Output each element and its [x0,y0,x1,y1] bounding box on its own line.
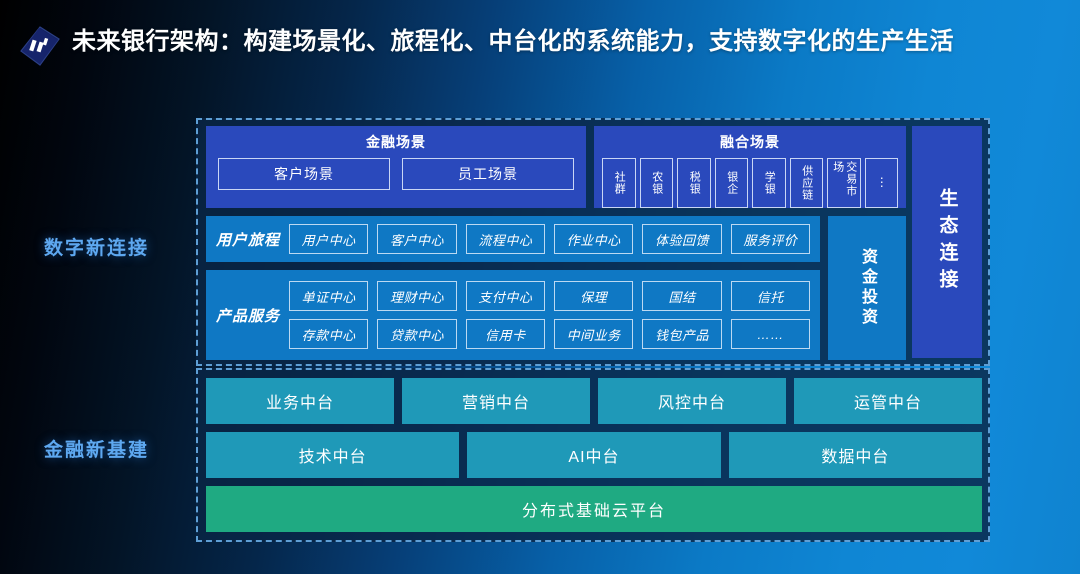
middle-platform-row-2: 技术中台 AI中台 数据中台 [206,432,982,478]
journey-chip-customer-center[interactable]: 客户中心 [377,224,456,254]
product-chip-loan-center[interactable]: 贷款中心 [377,319,456,349]
journey-chip-operation-center[interactable]: 作业中心 [554,224,633,254]
product-chip-factoring[interactable]: 保理 [554,281,633,311]
fusion-chip-trading-market[interactable]: 交易市场 [827,158,861,208]
user-journey-label: 用户旅程 [216,229,280,250]
fusion-scenario-box: 融合场景 社群 农银 税银 银企 学银 供应链 交易市场 ⋮ [594,126,906,208]
fusion-scenario-chips: 社群 农银 税银 银企 学银 供应链 交易市场 ⋮ [602,158,898,208]
product-chip-wallet-product[interactable]: 钱包产品 [642,319,721,349]
platform-tile-marketing[interactable]: 营销中台 [402,378,590,424]
platform-tile-business[interactable]: 业务中台 [206,378,394,424]
financial-scenario-title: 金融场景 [366,132,426,152]
infrastructure-area: 业务中台 营销中台 风控中台 运管中台 技术中台 AI中台 数据中台 分布式基础… [206,378,982,532]
scenario-row: 金融场景 客户场景 员工场景 融合场景 社群 农银 税银 银企 学银 供应链 交… [206,126,906,208]
fusion-chip-community[interactable]: 社群 [602,158,636,208]
product-chip-intermediary-business[interactable]: 中间业务 [554,319,633,349]
page-title: 未来银行架构：构建场景化、旅程化、中台化的系统能力，支持数字化的生产生活 [72,14,954,60]
fusion-chip-school-bank[interactable]: 学银 [752,158,786,208]
product-service-grid: 单证中心 理财中心 支付中心 保理 国结 信托 存款中心 贷款中心 信用卡 中间… [289,281,810,349]
product-chip-payment-center[interactable]: 支付中心 [466,281,545,311]
capital-investment-column[interactable]: 资金投资 [828,216,906,360]
cloud-platform-row: 分布式基础云平台 [206,486,982,532]
financial-scenario-chips: 客户场景 员工场景 [218,158,574,190]
product-chip-deposit-center[interactable]: 存款中心 [289,319,368,349]
brand-diamond-logo [14,20,66,72]
platform-tile-operations[interactable]: 运管中台 [794,378,982,424]
brand-diamond-logo-glyph [19,25,61,67]
product-chip-trust[interactable]: 信托 [731,281,810,311]
cloud-platform-bar[interactable]: 分布式基础云平台 [206,486,982,532]
rail-label-digital-connection: 数字新连接 [44,233,149,260]
fusion-chip-bank-enterprise[interactable]: 银企 [715,158,749,208]
page-header: 未来银行架构：构建场景化、旅程化、中台化的系统能力，支持数字化的生产生活 [0,0,1080,102]
connect-area: 金融场景 客户场景 员工场景 融合场景 社群 农银 税银 银企 学银 供应链 交… [206,126,906,358]
platform-tile-ai[interactable]: AI中台 [467,432,720,478]
fusion-scenario-title: 融合场景 [720,132,780,152]
journey-chip-service-evaluation[interactable]: 服务评价 [731,224,810,254]
fusion-chip-supply-chain[interactable]: 供应链 [790,158,824,208]
capital-investment-label: 资金投资 [855,248,879,328]
journey-chip-process-center[interactable]: 流程中心 [466,224,545,254]
product-service-label: 产品服务 [216,305,280,326]
journey-and-product-column: 用户旅程 用户中心 客户中心 流程中心 作业中心 体验回馈 服务评价 产品服务 … [206,216,820,360]
platform-tile-technology[interactable]: 技术中台 [206,432,459,478]
user-journey-row: 用户旅程 用户中心 客户中心 流程中心 作业中心 体验回馈 服务评价 [206,216,820,262]
rail-label-financial-infrastructure: 金融新基建 [44,435,149,462]
ecosystem-connection-label: 生态连接 [934,188,961,296]
scenario-chip-customer[interactable]: 客户场景 [218,158,390,190]
journey-chip-user-center[interactable]: 用户中心 [289,224,368,254]
product-chip-wealth-center[interactable]: 理财中心 [377,281,456,311]
product-chip-more-ellipsis[interactable]: …… [731,319,810,349]
platform-tile-data[interactable]: 数据中台 [729,432,982,478]
fusion-chip-more-ellipsis[interactable]: ⋮ [865,158,899,208]
product-chip-document-center[interactable]: 单证中心 [289,281,368,311]
fusion-chip-tax-bank[interactable]: 税银 [677,158,711,208]
product-service-row-1: 单证中心 理财中心 支付中心 保理 国结 信托 [289,281,810,311]
product-chip-international-settlement[interactable]: 国结 [642,281,721,311]
financial-scenario-box: 金融场景 客户场景 员工场景 [206,126,586,208]
product-service-row-2: 存款中心 贷款中心 信用卡 中间业务 钱包产品 …… [289,319,810,349]
ecosystem-connection-column[interactable]: 生态连接 [912,126,982,358]
product-service-row: 产品服务 单证中心 理财中心 支付中心 保理 国结 信托 存款中心 贷款中心 信… [206,270,820,360]
scenario-chip-employee[interactable]: 员工场景 [402,158,574,190]
platform-tile-risk-control[interactable]: 风控中台 [598,378,786,424]
middle-platform-row-1: 业务中台 营销中台 风控中台 运管中台 [206,378,982,424]
journey-chip-experience-feedback[interactable]: 体验回馈 [642,224,721,254]
product-chip-credit-card[interactable]: 信用卡 [466,319,545,349]
fusion-chip-agri-bank[interactable]: 农银 [640,158,674,208]
middle-section: 用户旅程 用户中心 客户中心 流程中心 作业中心 体验回馈 服务评价 产品服务 … [206,216,906,360]
